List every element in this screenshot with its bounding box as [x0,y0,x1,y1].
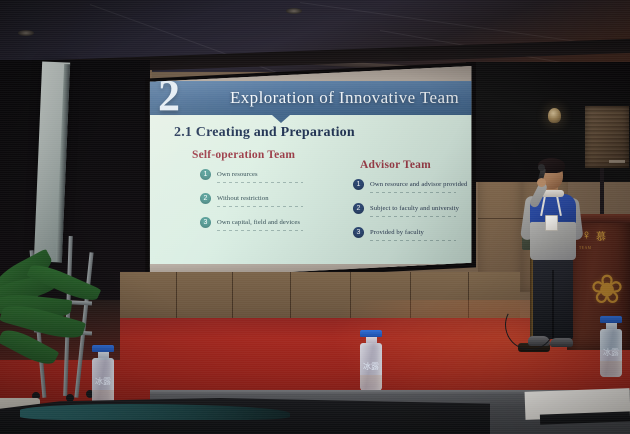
bullet-underline [217,230,303,231]
speaker-badge [609,160,625,163]
slide-banner-title: Exploration of Innovative Team [230,88,459,108]
lecture-hall-photo: 2 Exploration of Innovative Team 2.1 Cre… [0,0,630,434]
bullet-item: 2 Without restriction [200,193,269,204]
bullet-number: 3 [200,217,211,228]
bullet-number: 2 [353,203,364,214]
bottle-body: 冰露 [600,329,622,377]
presentation-slide: 2 Exploration of Innovative Team 2.1 Cre… [148,81,473,267]
bullet-number: 1 [353,179,364,190]
bullet-number: 1 [200,169,211,180]
bullet-item: 3 Provided by faculty [353,227,424,238]
bullet-text: Own resource and advisor provided [370,181,467,188]
bottle-label-text: 冰露 [363,361,379,372]
podium-medallion-icon: ❀ [584,268,630,312]
bullet-underline [217,182,303,183]
bottle-label-text: 冰露 [95,376,111,387]
bottle-contents [600,361,622,377]
bullet-item: 1 Own resources [200,169,258,180]
bullet-number: 2 [200,193,211,204]
column-heading-self-operation: Self-operation Team [192,149,295,161]
wall-sconce-light-icon [548,108,561,123]
bottle-label: 冰露 [600,342,622,362]
ceiling-downlight [286,8,302,14]
bottle-body: 冰露 [360,343,382,391]
water-bottle-left[interactable]: 冰露 [92,345,114,406]
column-heading-advisor: Advisor Team [360,159,431,171]
slide-subsection-title: 2.1 Creating and Preparation [174,125,355,141]
bottle-label: 冰露 [360,356,382,376]
water-bottle-center[interactable]: 冰露 [360,330,382,391]
projector-screen: 2 Exploration of Innovative Team 2.1 Cre… [148,66,473,279]
bullet-number: 3 [353,227,364,238]
bottle-contents [360,375,382,391]
bullet-underline [370,216,456,217]
bullet-underline [370,240,456,241]
speaker-grill [585,106,629,168]
bottle-cap [600,316,622,323]
presenter-hand [537,178,546,187]
bullet-underline [217,206,303,207]
presenter-shoe-right [550,338,573,347]
bottle-body: 冰露 [92,358,114,406]
easel-caster [66,394,74,402]
bullet-text: Own capital, field and devices [217,219,300,226]
bottle-label-text: 冰露 [603,347,619,358]
slide-title-banner: 2 Exploration of Innovative Team [148,81,473,115]
bullet-item: 2 Subject to faculty and university [353,203,459,214]
bullet-text: Without restriction [217,195,269,202]
bottle-label: 冰露 [92,371,114,391]
podium-emblem-text: 慕 [596,228,607,243]
bottle-cap [92,345,114,352]
bottle-cap [360,330,382,337]
water-bottle-right[interactable]: 冰露 [600,316,622,377]
wall-mounted-loudspeaker [585,106,629,168]
bullet-text: Subject to faculty and university [370,205,459,212]
microphone-capsule-icon [538,164,545,171]
foreground-chair-backrest [20,404,290,420]
ceiling-downlight [18,30,34,36]
bullet-text: Own resources [217,171,258,178]
bullet-underline [370,192,456,193]
bullet-item: 1 Own resource and advisor provided [353,179,467,190]
bullet-item: 3 Own capital, field and devices [200,217,300,228]
bullet-text: Provided by faculty [370,229,424,236]
presenter-name-badge [545,215,558,231]
